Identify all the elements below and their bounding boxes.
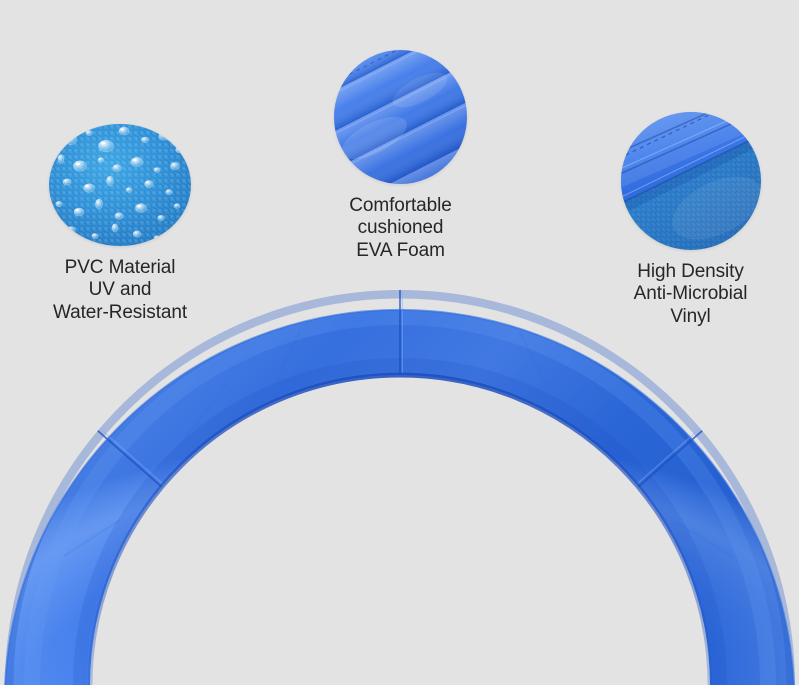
eva-foam-folds-photo bbox=[334, 50, 467, 184]
feature-callout-vinyl: High Density Anti-Microbial Vinyl bbox=[598, 112, 783, 328]
feature-callout-eva: Comfortable cushioned EVA Foam bbox=[318, 50, 483, 262]
feature-callout-pvc: PVC Material UV and Water-Resistant bbox=[20, 124, 220, 324]
pad-inner-lip bbox=[90, 375, 710, 685]
pvc-water-droplets-photo bbox=[49, 124, 191, 246]
feature-caption-vinyl: High Density Anti-Microbial Vinyl bbox=[634, 261, 748, 328]
cushion-folds bbox=[334, 50, 467, 184]
pad-crease-lines bbox=[64, 330, 733, 557]
pvc-water-droplets-artwork bbox=[49, 124, 191, 246]
feature-caption-eva: Comfortable cushioned EVA Foam bbox=[349, 195, 451, 262]
high-density-vinyl-artwork bbox=[621, 112, 761, 250]
high-density-vinyl-photo bbox=[621, 112, 761, 250]
pad-outer-edge bbox=[5, 310, 794, 685]
eva-foam-folds-artwork bbox=[334, 50, 467, 184]
pad-body bbox=[5, 310, 794, 685]
infographic-canvas: PVC Material UV and Water-Resistant bbox=[0, 0, 799, 685]
feature-caption-pvc: PVC Material UV and Water-Resistant bbox=[53, 257, 187, 324]
